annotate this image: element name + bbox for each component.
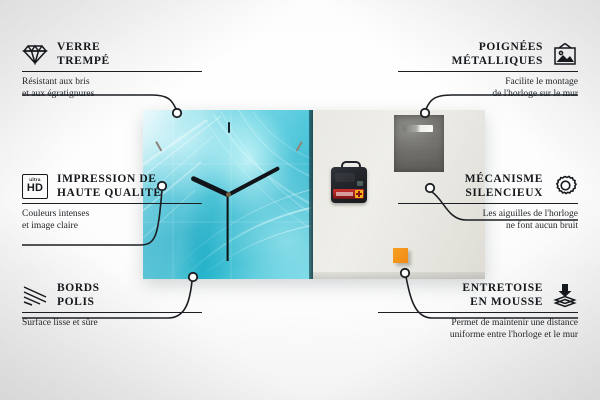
divider (398, 71, 578, 72)
divider (398, 203, 578, 204)
callout-header: BORDS POLIS (22, 281, 202, 309)
callout-mecanisme-silencieux: MÉCANISME SILENCIEUX Les aiguilles de l'… (398, 172, 578, 232)
battery-label (336, 192, 353, 196)
callout-title: MÉCANISME SILENCIEUX (465, 172, 543, 200)
callout-title: ENTRETOISE EN MOUSSE (462, 281, 543, 309)
second-hand (227, 195, 229, 261)
callout-entretoise-en-mousse: ENTRETOISE EN MOUSSE Permet de maintenir… (378, 281, 578, 341)
gear-icon (552, 173, 578, 199)
callout-impression-haute-qualite: ultra HD IMPRESSION DE HAUTE QUALITÉ Cou… (22, 172, 202, 232)
mechanism-body (331, 167, 367, 203)
metal-texture (394, 115, 444, 172)
foam-spacer-icon (552, 282, 578, 308)
callout-header: VERRE TREMPÉ (22, 40, 202, 68)
callout-header: ENTRETOISE EN MOUSSE (378, 281, 578, 309)
callout-header: POIGNÉES MÉTALLIQUES (398, 40, 578, 68)
divider (22, 312, 202, 313)
mechanism-detail (357, 181, 363, 186)
callout-title: IMPRESSION DE HAUTE QUALITÉ (57, 172, 162, 200)
callout-bords-polis: BORDS POLIS Surface lisse et sûre (22, 281, 202, 329)
callout-poignees-metalliques: POIGNÉES MÉTALLIQUES Facilite le montage… (398, 40, 578, 100)
callout-subtitle: Permet de maintenir une distance uniform… (378, 317, 578, 341)
callout-verre-trempe: VERRE TREMPÉ Résistant aux bris et aux é… (22, 40, 202, 100)
callout-subtitle: Les aiguilles de l'horloge ne font aucun… (398, 208, 578, 232)
hour-marker (228, 122, 230, 133)
callout-subtitle: Couleurs intenses et image claire (22, 208, 202, 232)
callout-header: MÉCANISME SILENCIEUX (398, 172, 578, 200)
callout-subtitle: Facilite le montage de l'horloge sur le … (398, 76, 578, 100)
callout-subtitle: Résistant aux bris et aux égratignures (22, 76, 202, 100)
mechanism-detail (335, 173, 355, 182)
picture-hanger-icon (552, 41, 578, 67)
callout-header: ultra HD IMPRESSION DE HAUTE QUALITÉ (22, 172, 202, 200)
metal-handle-plate (394, 115, 444, 172)
battery-plus-terminal (355, 190, 363, 198)
diamond-icon (22, 41, 48, 67)
foam-spacer-sample (393, 248, 408, 263)
callout-title: BORDS POLIS (57, 281, 100, 309)
product-infographic: VERRE TREMPÉ Résistant aux bris et aux é… (0, 0, 600, 400)
callout-title: POIGNÉES MÉTALLIQUES (452, 40, 543, 68)
callout-subtitle: Surface lisse et sûre (22, 317, 202, 329)
ultra-hd-icon: ultra HD (22, 173, 48, 199)
divider (22, 71, 202, 72)
divider (22, 203, 202, 204)
ultra-hd-large-text: HD (27, 183, 43, 194)
hands-center-cap (226, 192, 231, 197)
battery (333, 189, 364, 199)
polished-edges-icon (22, 282, 48, 308)
callout-title: VERRE TREMPÉ (57, 40, 110, 68)
divider (378, 312, 578, 313)
clock-mechanism (331, 167, 367, 203)
